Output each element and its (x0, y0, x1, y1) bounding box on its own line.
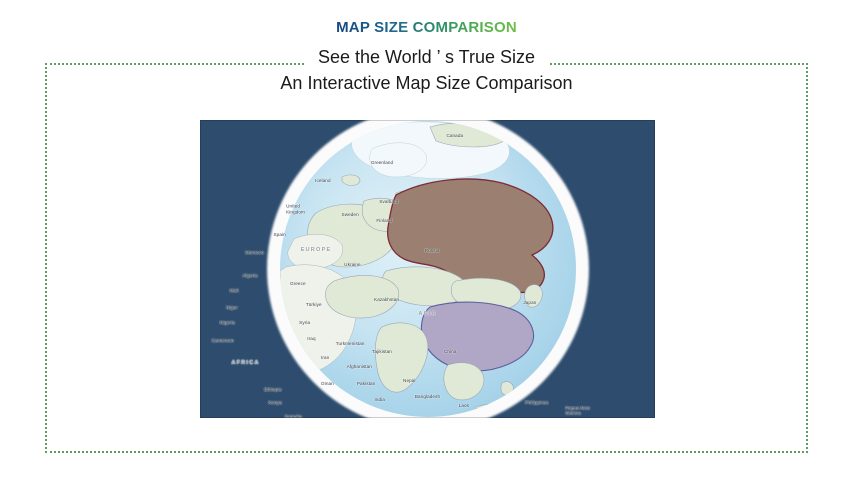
map-label: Niger (226, 305, 237, 311)
map-label: ASIA (418, 312, 436, 318)
map-label: EUROPE (301, 248, 332, 254)
map-label: China (444, 350, 457, 356)
map-label: Turkmenistan (336, 341, 365, 347)
map-label: Greece (290, 281, 306, 287)
map-label: Morocco (245, 250, 263, 256)
map-label: Cameroon (212, 338, 234, 344)
map-label: Kenya (268, 400, 282, 406)
map-label: Canada (446, 134, 463, 140)
map-label: Mali (230, 289, 239, 295)
map-label: India (374, 397, 384, 403)
map-label: Russia (425, 248, 440, 254)
map-label: AFRICA (231, 362, 259, 368)
map-label: Afghanistan (347, 365, 372, 371)
map-label: Greenland (371, 160, 393, 166)
map-label: Spain (274, 232, 286, 238)
map-label: Iran (321, 356, 329, 362)
map-label: Tajikistan (372, 350, 392, 356)
map-label: Somalia (285, 414, 302, 418)
page-kicker: MAP SIZE COMPARISON (336, 20, 517, 35)
map-label: Philippines (525, 400, 548, 406)
map-label: Laos (459, 403, 469, 409)
map-label: Pakistan (357, 381, 375, 387)
slide-canvas: MAP SIZE COMPARISON See the World ’ s Tr… (0, 0, 853, 480)
map-label: Japan (523, 300, 536, 306)
map-label: Bangladesh (415, 394, 440, 400)
kicker-wrap: MAP SIZE COMPARISON (0, 20, 853, 36)
map-label: Oman (321, 381, 334, 387)
map-label: Finland (376, 219, 392, 225)
globe[interactable] (280, 121, 576, 417)
map-label: Papua NewGuinea (565, 405, 590, 416)
map-label: Iceland (315, 178, 331, 184)
map-label: Iraq (307, 336, 315, 342)
map-label: Syria (299, 320, 310, 326)
map-label: Nigeria (220, 320, 235, 326)
map-label: Ukraine (344, 262, 361, 268)
map-label: Svalbard (379, 199, 398, 205)
map-label: Algeria (243, 274, 258, 280)
map-label: Ethiopia (264, 387, 281, 393)
globe-geometry (280, 121, 576, 417)
map-label: Nepal (403, 378, 416, 384)
map-panel[interactable]: CanadaGreenlandIcelandSvalbardUnitedKing… (200, 120, 655, 418)
map-label: Türkiye (306, 302, 322, 308)
map-label: Kazakhstan (374, 297, 399, 303)
map-label: Sweden (342, 213, 359, 219)
map-label: UnitedKingdom (286, 204, 305, 215)
